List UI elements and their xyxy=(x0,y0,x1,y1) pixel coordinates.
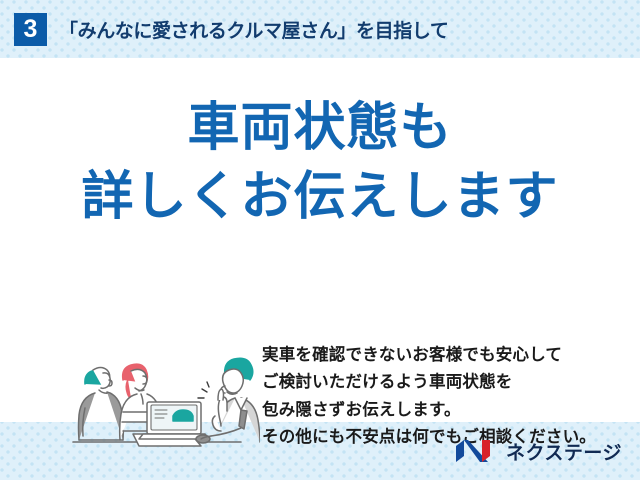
header-title: 「みんなに愛されるクルマ屋さん」を目指して xyxy=(59,16,448,43)
banner-header: 3 「みんなに愛されるクルマ屋さん」を目指して xyxy=(0,0,640,58)
headline-line-1: 車両状態も xyxy=(187,99,452,157)
nextstage-logo: ネクステージ xyxy=(454,438,622,465)
brand-name: ネクステージ xyxy=(506,438,622,465)
headline-line-2: 詳しくお伝えします xyxy=(0,163,640,232)
body-line-1: 実車を確認できないお客様でも安心して xyxy=(262,342,632,369)
body-line-3: 包み隠さずお伝えします。 xyxy=(262,397,632,424)
logo-n-mark-icon xyxy=(454,438,498,464)
step-number-badge: 3 xyxy=(14,13,47,46)
content-panel: 車両状態も 詳しくお伝えします xyxy=(0,58,640,422)
banner-footer: ネクステージ xyxy=(0,422,640,480)
headline: 車両状態も 詳しくお伝えします xyxy=(0,94,640,231)
body-line-2: ご検討いただけるよう車両状態を xyxy=(262,369,632,396)
promo-banner: 3 「みんなに愛されるクルマ屋さん」を目指して 車両状態も 詳しくお伝えします xyxy=(0,0,640,480)
